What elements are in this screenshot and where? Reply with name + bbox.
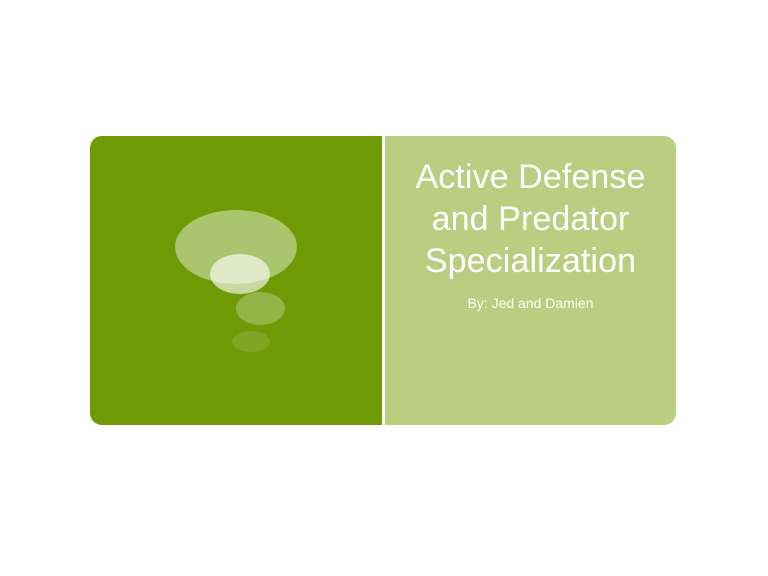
title-text-panel: Active Defense and Predator Specializati…: [385, 136, 676, 425]
ellipse-small-icon: [232, 331, 270, 352]
title-slide-card: Active Defense and Predator Specializati…: [90, 136, 676, 425]
slide-title: Active Defense and Predator Specializati…: [385, 156, 676, 282]
slide-subtitle-authors: By: Jed and Damien: [467, 294, 593, 312]
ellipse-inner-highlight-icon: [210, 254, 270, 294]
slide-canvas: Active Defense and Predator Specializati…: [0, 0, 768, 576]
ellipse-medium-icon: [236, 292, 285, 325]
decorative-graphic-panel: [90, 136, 382, 425]
